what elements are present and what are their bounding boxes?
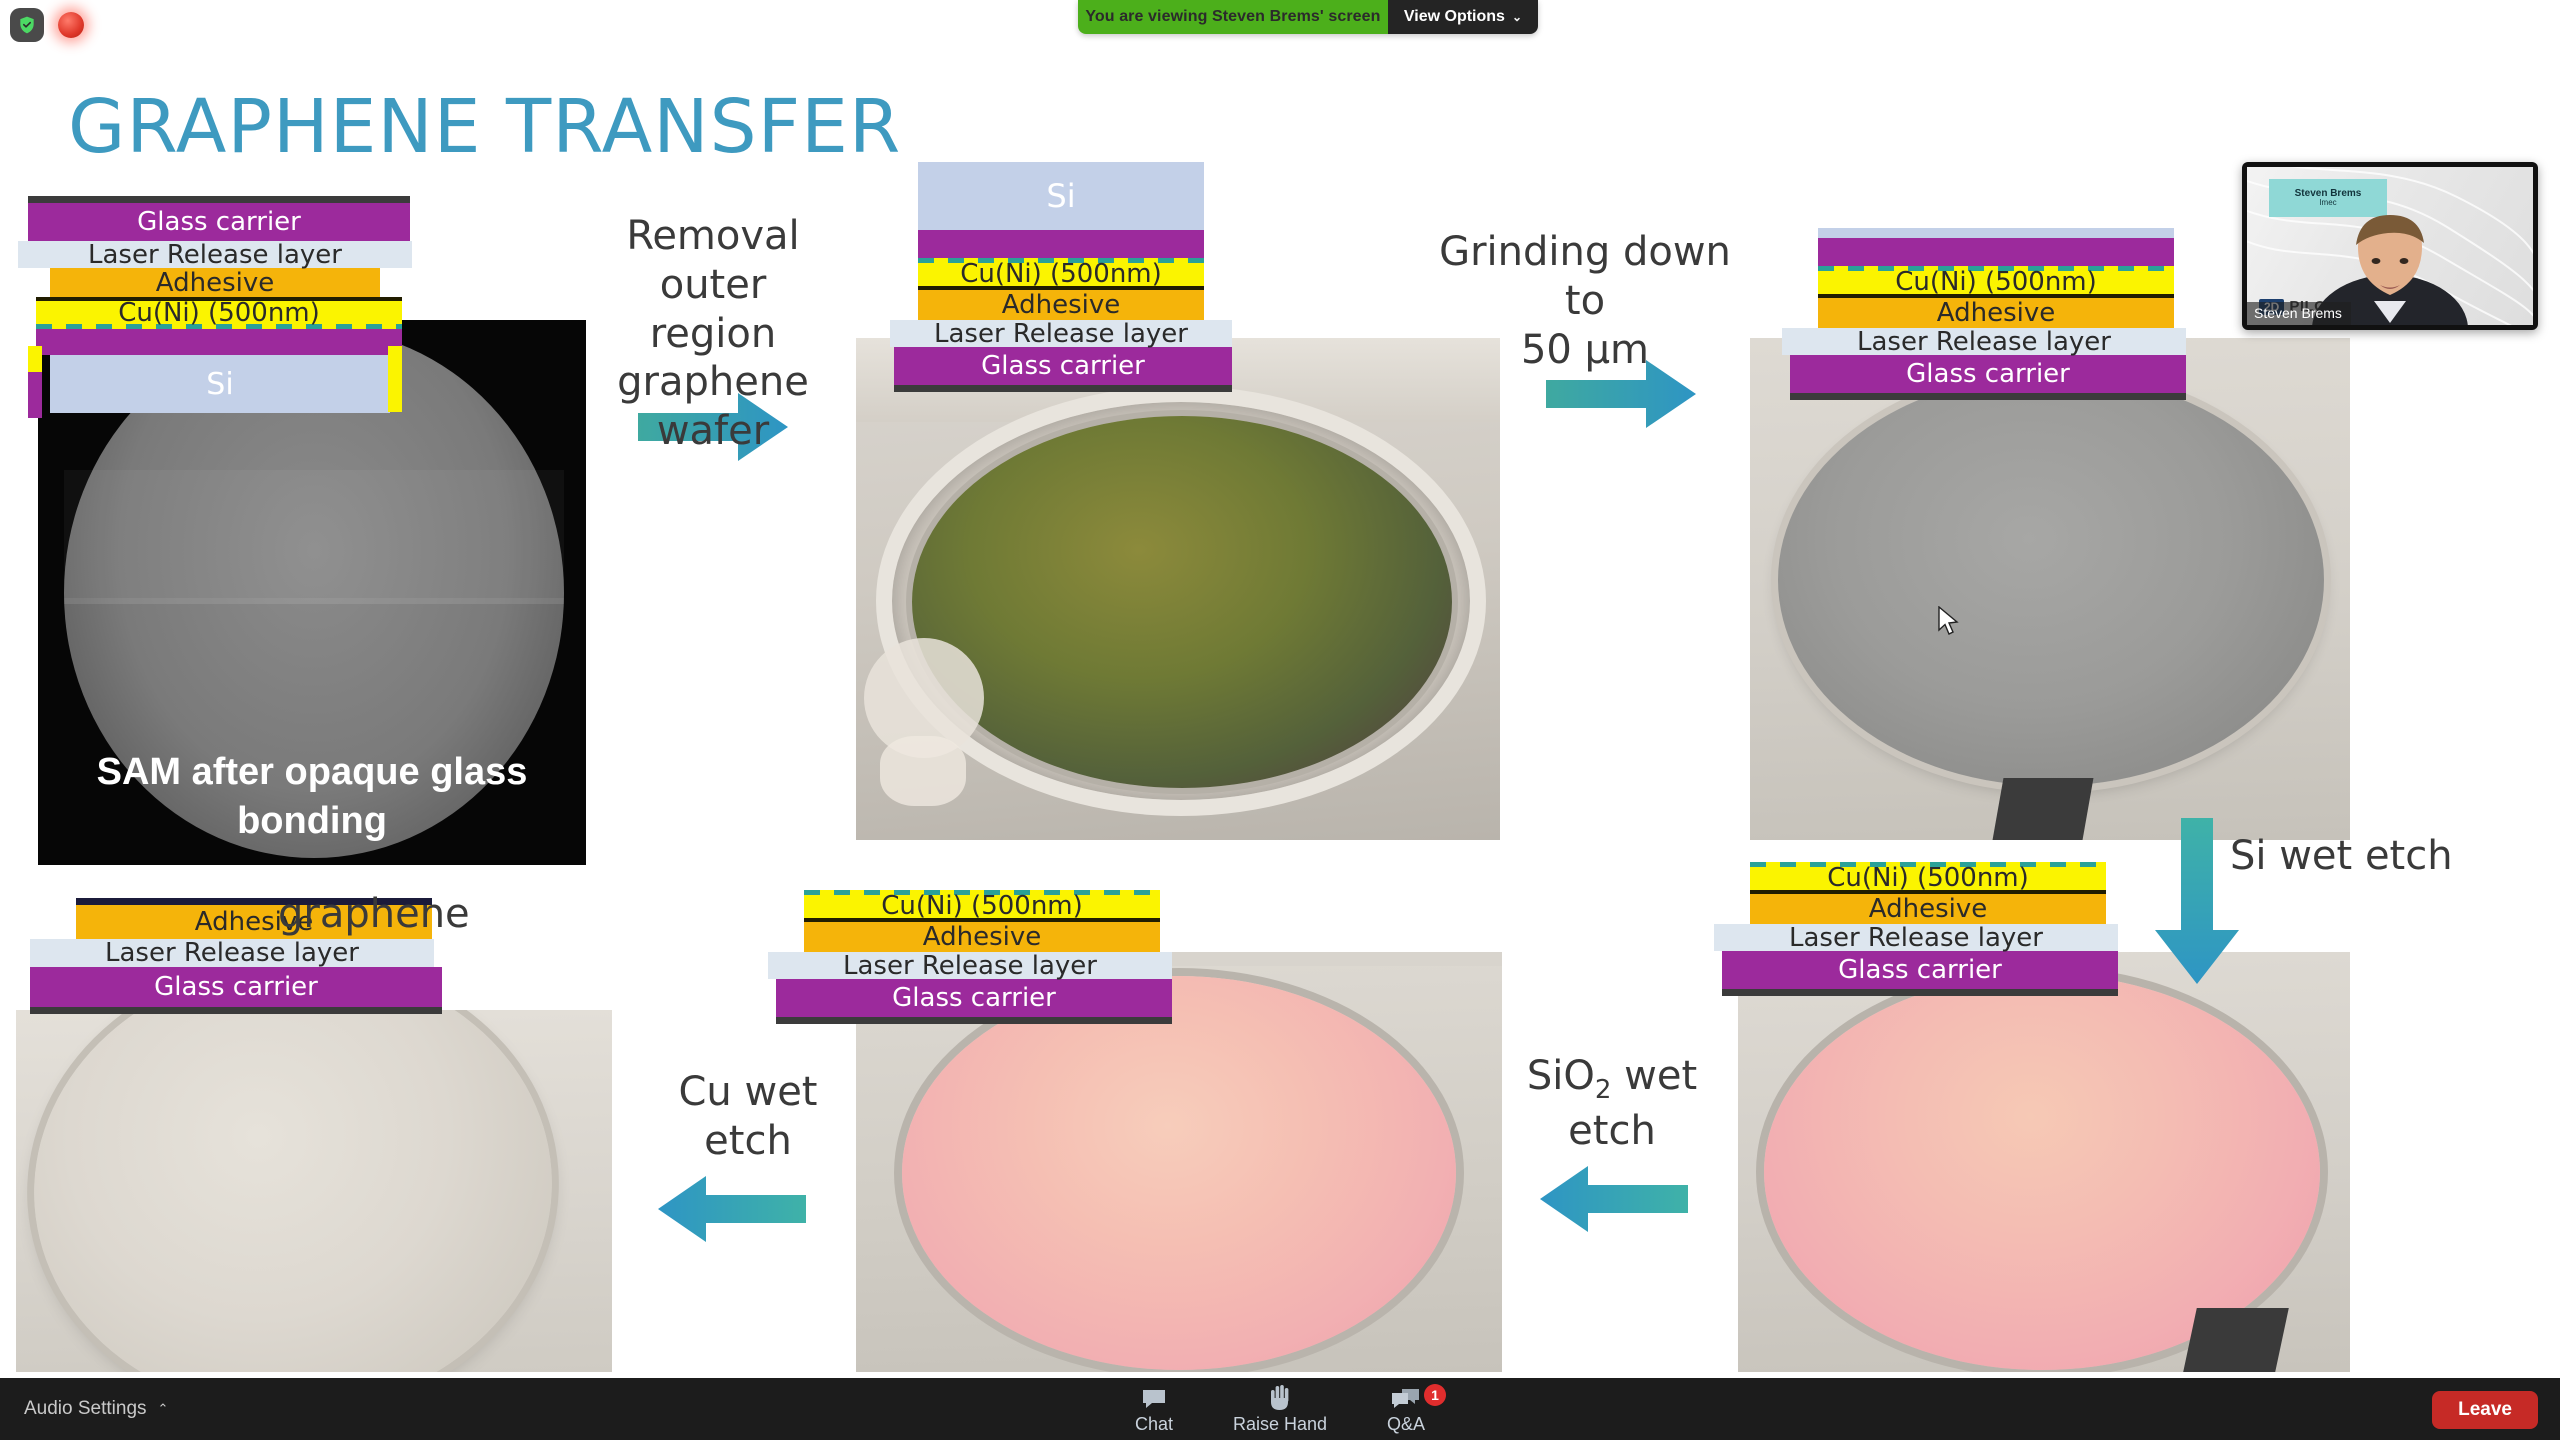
sio2-label-line2: etch [1508,1107,1716,1156]
stack1-top-dark-line [28,196,410,203]
stack6-glass-carrier: Glass carrier [30,967,442,1007]
participant-name-label: Steven Brems [2247,302,2351,325]
photo-graphene-wafer [856,338,1500,840]
participant-video: Steven Brems Imec 2D PILOT LINE Steven B… [2247,167,2533,325]
recording-dot-icon[interactable] [58,12,84,38]
qa-badge: 1 [1424,1384,1446,1406]
wafer-white-left [19,1010,567,1372]
raise-hand-label: Raise Hand [1233,1414,1327,1435]
stack5-bottom-dark-line [776,1017,1172,1024]
photo-wafer-ground [1750,338,2350,840]
stack2-glass-carrier: Glass carrier [894,347,1232,385]
graphene-label: graphene [278,890,508,939]
stack5-glass-carrier: Glass carrier [776,979,1172,1017]
raise-hand-button[interactable]: Raise Hand [1222,1378,1338,1440]
stack1-cuni: Cu(Ni) (500nm) [36,297,402,329]
stack3-si-thin [1818,228,2174,238]
stack3-laser-release: Laser Release layer [1782,328,2186,355]
wafer-gray-ground [1778,374,2324,786]
stack2-laser-release: Laser Release layer [890,320,1232,347]
stack3-cuni: Cu(Ni) (500nm) [1818,266,2174,298]
leave-button[interactable]: Leave [2432,1391,2538,1429]
layer-stack-3: Cu(Ni) (500nm) Adhesive Laser Release la… [1760,228,2200,400]
toolbar-actions: Chat Raise Hand [1096,1378,1464,1440]
stack4-laser-release: Laser Release layer [1714,924,2118,951]
stack2-bottom-dark-line [894,385,1232,392]
stack4-glass-carrier: Glass carrier [1722,951,2118,989]
sio2-label-main: SiO [1527,1053,1595,1099]
arrow-left-cu-etch [658,1176,806,1242]
layer-stack-4: Cu(Ni) (500nm) Adhesive Laser Release la… [1700,862,2140,996]
stack2-purple-interface [918,230,1204,258]
step-caption-si-etch: Si wet etch [2230,832,2530,881]
stack4-cuni: Cu(Ni) (500nm) [1750,862,2106,894]
sam-caption-overlay: SAM after opaque glass bonding [38,748,586,845]
stack3-glass-carrier: Glass carrier [1790,355,2186,393]
stack3-bottom-dark-line [1790,393,2186,400]
raised-hand-icon [1268,1384,1292,1410]
sio2-label-sub: 2 [1595,1075,1612,1105]
arrow-left-sio2-etch [1540,1166,1688,1232]
slide-title: GRAPHENE TRANSFER [68,84,901,170]
stack2-cuni: Cu(Ni) (500nm) [918,258,1204,290]
audio-settings-label: Audio Settings [24,1398,147,1420]
layer-stack-2: Si Cu(Ni) (500nm) Adhesive Laser Release… [866,162,1266,392]
audio-settings-button[interactable]: Audio Settings ⌃ [14,1378,178,1440]
stack1-glass-carrier: Glass carrier [28,203,410,241]
shield-check-icon[interactable] [10,8,44,42]
photo-wafer-pink-right [1738,952,2350,1372]
chat-button[interactable]: Chat [1096,1378,1212,1440]
stack3-adhesive: Adhesive [1818,298,2174,328]
stack1-si: Si [50,355,390,413]
stack3-purple-interface [1818,238,2174,266]
view-options-label: View Options [1404,8,1505,26]
step-caption-sio2-etch: SiO2 wet etch [1508,1052,1716,1156]
stack6-bottom-dark-line [30,1007,442,1014]
wafer-pink-middle [902,976,1456,1370]
stack4-adhesive: Adhesive [1750,894,2106,924]
step-caption-grinding: Grinding down to 50 μm [1420,228,1750,374]
window-controls [10,8,84,42]
arrow-down-si-etch [2155,818,2239,984]
chat-bubble-icon [1141,1384,1167,1410]
stack1-purple-interface [36,329,402,355]
stack2-si: Si [918,162,1204,230]
qa-bubbles-icon [1391,1384,1421,1410]
name-card-org: Imec [2319,199,2336,208]
chat-label: Chat [1135,1414,1173,1435]
step-caption-cu-etch: Cu wet etch [648,1068,848,1166]
wafer-green-graphene [912,416,1452,788]
stack5-adhesive: Adhesive [804,922,1160,952]
layer-stack-1: Glass carrier Laser Release layer Adhesi… [14,196,414,413]
stack1-laser-release: Laser Release layer [18,241,412,268]
step-caption-removal: Removal outer region graphene wafer [578,212,848,456]
stack4-bottom-dark-line [1722,989,2118,996]
screen-share-banner: You are viewing Steven Brems' screen Vie… [1078,0,1538,34]
zoom-screenshare-window: You are viewing Steven Brems' screen Vie… [0,0,2560,1440]
layer-stack-5: Cu(Ni) (500nm) Adhesive Laser Release la… [760,890,1200,1024]
stack5-laser-release: Laser Release layer [768,952,1172,979]
stack6-laser-release: Laser Release layer [30,939,434,967]
mouse-cursor [1938,606,1960,638]
sio2-label-rest: wet [1611,1053,1697,1099]
viewing-screen-text: You are viewing Steven Brems' screen [1078,0,1388,34]
qa-button[interactable]: 1 Q&A [1348,1378,1464,1440]
qa-label: Q&A [1387,1414,1425,1435]
photo-wafer-white-left [16,1010,612,1372]
stack2-adhesive: Adhesive [918,290,1204,320]
chevron-down-icon: ⌄ [1512,11,1522,23]
view-options-button[interactable]: View Options ⌄ [1388,0,1538,34]
meeting-toolbar: Audio Settings ⌃ Chat [0,1378,2560,1440]
chevron-up-icon: ⌃ [158,1401,169,1417]
stack5-cuni: Cu(Ni) (500nm) [804,890,1160,922]
participant-video-tile[interactable]: Steven Brems Imec 2D PILOT LINE Steven B… [2242,162,2538,330]
stack1-adhesive: Adhesive [50,268,380,298]
